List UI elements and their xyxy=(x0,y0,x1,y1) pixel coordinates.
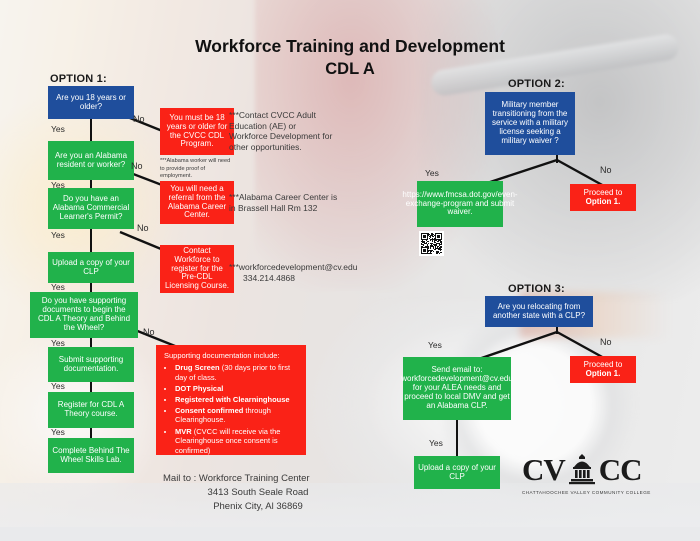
note-contact-cvcc: ***Contact CVCC Adult Education (AE) or … xyxy=(229,110,337,153)
edge-label-yes-upload-clp3: Yes xyxy=(429,438,443,448)
cvcc-wordmark-left: CV xyxy=(522,452,565,488)
node-military-no-outcome[interactable]: Proceed to Option 1. xyxy=(570,184,636,211)
node-complete-btw[interactable]: Complete Behind The Wheel Skills Lab. xyxy=(48,438,134,473)
node-register-theory[interactable]: Register for CDL A Theory course. xyxy=(48,392,134,428)
edge-label-yes-submit: Yes xyxy=(51,381,65,391)
supporting-doc-term: DOT Physical xyxy=(175,384,223,393)
flowchart-poster: Workforce Training and Development CDL A… xyxy=(0,0,700,541)
supporting-doc-item: Consent confirmed through Clearinghouse. xyxy=(175,406,299,425)
supporting-doc-item: MVR (CVCC will receive via the Clearingh… xyxy=(175,427,299,456)
option-2-label: OPTION 2: xyxy=(508,78,565,90)
qr-code[interactable] xyxy=(419,231,444,256)
node-age-question[interactable]: Are you 18 years or older? xyxy=(48,86,134,119)
option-1-label: OPTION 1: xyxy=(50,73,107,85)
edge-label-yes-clp: Yes xyxy=(51,230,65,240)
node-no-clp-outcome[interactable]: Contact Workforce to register for the Pr… xyxy=(160,245,234,293)
edge-label-no-age: No xyxy=(133,114,145,124)
cvcc-wordmark: CV CC xyxy=(522,452,651,488)
supporting-docs-heading: Supporting documentation include: xyxy=(164,351,299,360)
supporting-doc-item: Drug Screen (30 days prior to first day … xyxy=(175,363,299,382)
edge-label-yes-age: Yes xyxy=(51,124,65,134)
node-submit-docs[interactable]: Submit supporting documentation. xyxy=(48,347,134,382)
note-career-center: ***Alabama Career Center is in Brassell … xyxy=(229,192,339,213)
page-title-line1: Workforce Training and Development xyxy=(0,36,700,57)
supporting-doc-term: Registered with Clearninghouse xyxy=(175,395,290,404)
supporting-docs-items: Drug Screen (30 days prior to first day … xyxy=(164,363,299,455)
edge-label-no-docs: No xyxy=(143,327,155,337)
node-no-residency-outcome[interactable]: You will need a referral from the Alabam… xyxy=(160,181,234,224)
node-military-question[interactable]: Military member transitioning from the s… xyxy=(485,92,575,155)
option-3-label: OPTION 3: xyxy=(508,283,565,295)
mailing-address-line1: Mail to : Workforce Training Center xyxy=(163,472,353,486)
node-upload-clp-option3[interactable]: Upload a copy of your CLP xyxy=(414,456,500,489)
node-relocating-question[interactable]: Are you relocating from another state wi… xyxy=(485,296,593,327)
cvcc-logo-subtitle: CHATTAHOOCHEE VALLEY COMMUNITY COLLEGE xyxy=(522,490,651,495)
node-no-age-outcome[interactable]: You must be 18 years or older for the CV… xyxy=(160,108,234,155)
supporting-doc-item: Registered with Clearninghouse xyxy=(175,395,299,405)
node-supporting-documents-list[interactable]: Supporting documentation include: Drug S… xyxy=(156,345,306,455)
cvcc-wordmark-right: CC xyxy=(599,452,642,488)
edge-label-no-military: No xyxy=(600,165,612,175)
edge-label-yes-military: Yes xyxy=(425,168,439,178)
edge-label-yes-relocating: Yes xyxy=(428,340,442,350)
edge-label-no-relocating: No xyxy=(600,337,612,347)
note-alabama-worker: ***Alabama worker will need to provide p… xyxy=(160,158,234,181)
supporting-doc-term: Consent confirmed xyxy=(175,406,243,415)
note-workforce-phone: 334.214.4868 xyxy=(229,273,349,284)
supporting-doc-item: DOT Physical xyxy=(175,384,299,394)
edge-label-no-clp: No xyxy=(137,223,149,233)
supporting-doc-term: Drug Screen xyxy=(175,363,220,372)
dome-building-icon xyxy=(565,452,599,486)
background-bottom-edge xyxy=(0,527,700,541)
cvcc-logo: CV CC CHATTAHOOCHEE VALLEY COMMUNITY COL… xyxy=(522,452,651,495)
edge-label-yes-upload: Yes xyxy=(51,282,65,292)
note-workforce-email: ***workforcedevelopment@cv.edu 334.214.4… xyxy=(229,262,349,283)
relocating-no-outcome-line2: Option 1. xyxy=(586,370,621,379)
supporting-doc-detail: (CVCC will receive via the Clearinghouse… xyxy=(175,427,280,455)
supporting-doc-term: MVR xyxy=(175,427,192,436)
mailing-address-line2: 3413 South Seale Road xyxy=(163,486,353,500)
military-no-outcome-line2: Option 1. xyxy=(586,198,621,207)
mailing-address: Mail to : Workforce Training Center 3413… xyxy=(163,472,353,513)
node-relocating-no-outcome[interactable]: Proceed to Option 1. xyxy=(570,356,636,383)
node-clp-question[interactable]: Do you have an Alabama Commercial Learne… xyxy=(48,188,134,229)
note-workforce-email-address: ***workforcedevelopment@cv.edu xyxy=(229,262,349,273)
mailing-address-line3: Phenix City, Al 36869 xyxy=(163,500,353,514)
node-relocating-yes-outcome[interactable]: Send email to: workforcedevelopment@cv.e… xyxy=(403,357,511,420)
node-upload-clp[interactable]: Upload a copy of your CLP xyxy=(48,252,134,283)
node-fmcsa-link[interactable]: https://www.fmcsa.dot.gov/even-exchange-… xyxy=(417,181,503,227)
edge-label-no-residency: No xyxy=(131,161,143,171)
node-supporting-docs-question[interactable]: Do you have supporting documents to begi… xyxy=(30,292,138,338)
edge-label-yes-register: Yes xyxy=(51,427,65,437)
node-residency-question[interactable]: Are you an Alabama resident or worker? xyxy=(48,141,134,180)
